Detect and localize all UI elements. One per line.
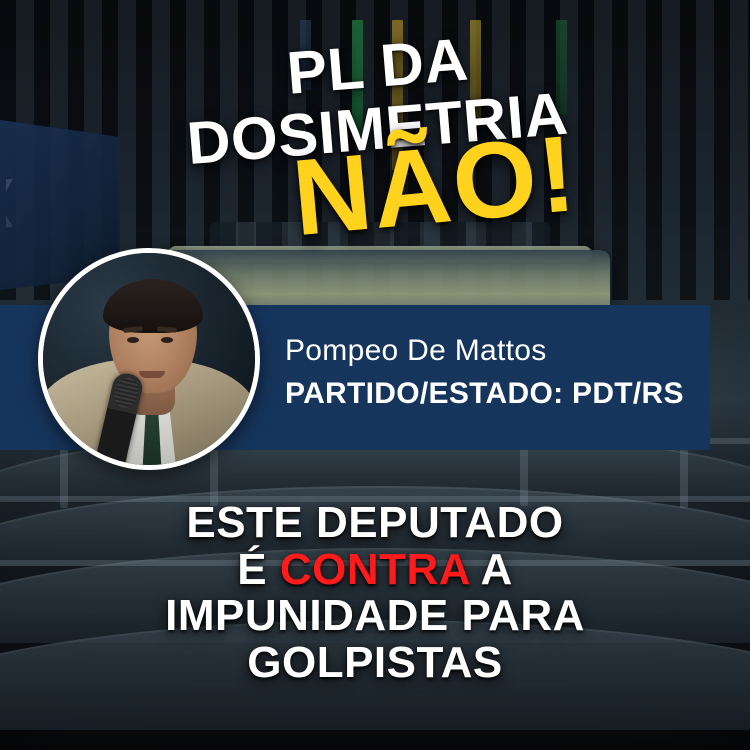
message-highlight: CONTRA [280,545,470,594]
portrait-mouth [139,371,165,378]
message-line-3: IMPUNIDADE PARA [0,593,750,640]
deputy-portrait [38,248,260,470]
message-line-1: ESTE DEPUTADO [0,500,750,547]
deputy-party-state: PARTIDO/ESTADO: PDT/RS [285,374,684,413]
message-line-2-post: A [469,545,512,594]
message-line-2: É CONTRA A [0,547,750,594]
deputy-banner-text: Pompeo De Mattos PARTIDO/ESTADO: PDT/RS [285,332,684,413]
deputy-name: Pompeo De Mattos [285,332,684,370]
message-block: ESTE DEPUTADO É CONTRA A IMPUNIDADE PARA… [0,500,750,687]
portrait-eye-left [127,337,139,343]
message-line-4: GOLPISTAS [0,640,750,687]
message-line-2-pre: É [237,545,280,594]
portrait-eye-right [161,337,173,343]
campaign-poster: PL DA DOSIMETRIA NÃO! Pompeo De Mattos P… [0,0,750,750]
